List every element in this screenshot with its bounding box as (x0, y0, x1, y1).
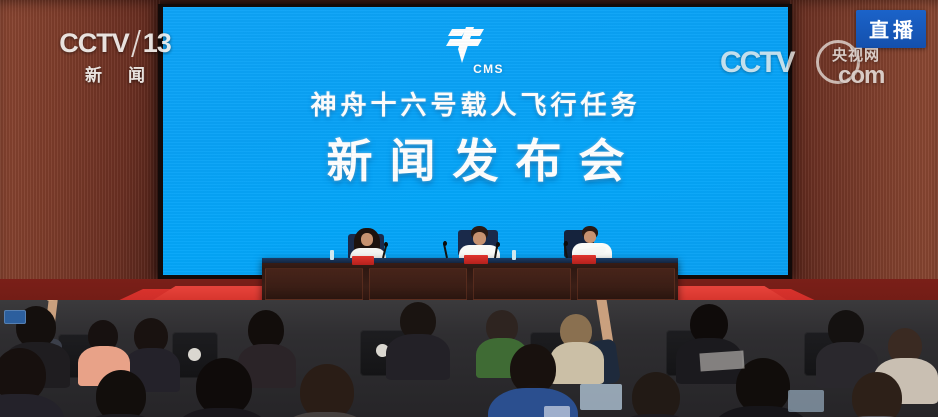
speaker-right-face (584, 231, 596, 243)
water-bottle-center (512, 250, 516, 260)
audience-head (632, 372, 680, 417)
microphone-head-center-2 (496, 242, 500, 247)
speaker-left-face (361, 233, 373, 246)
audience-head (852, 372, 902, 417)
hall-left-wall-panel (0, 0, 168, 300)
microphone-head-center (443, 241, 447, 246)
cms-logo: CMS (416, 25, 536, 76)
audience-head (96, 370, 146, 417)
podium-panel-group (262, 266, 678, 302)
podium-panel (473, 268, 571, 300)
microphone-head-right (564, 241, 568, 246)
speaker-center-face (473, 232, 486, 245)
nameplate-right (572, 255, 596, 264)
live-badge: 直播 (856, 10, 926, 48)
laptop-screen (580, 384, 622, 410)
mission-subtitle: 神舟十六号载人飞行任务 (163, 85, 788, 122)
nameplate-center (464, 255, 488, 264)
podium-panel (265, 268, 363, 300)
audience-head (300, 364, 354, 417)
audience-shoulders (550, 342, 604, 384)
audience-shoulders (386, 334, 450, 380)
podium-panel (577, 268, 675, 300)
audience-area (0, 300, 938, 417)
podium-table (262, 258, 678, 306)
event-title: 新闻发布会 (163, 125, 788, 191)
laptop-screen (788, 390, 824, 412)
jacket-text (544, 406, 570, 417)
cms-logo-text: CMS (416, 62, 536, 76)
microphone-head-left (384, 242, 388, 247)
podium-panel (369, 268, 467, 300)
notebook-paper (699, 350, 744, 371)
broadcast-frame: CMS 神舟十六号载人飞行任务 新闻发布会 (0, 0, 938, 417)
water-bottle-left (330, 250, 334, 260)
nameplate-left (352, 256, 374, 265)
handheld-camera-icon (4, 310, 26, 324)
cms-logo-icon (440, 25, 512, 65)
chair-emblem-icon (188, 348, 201, 361)
